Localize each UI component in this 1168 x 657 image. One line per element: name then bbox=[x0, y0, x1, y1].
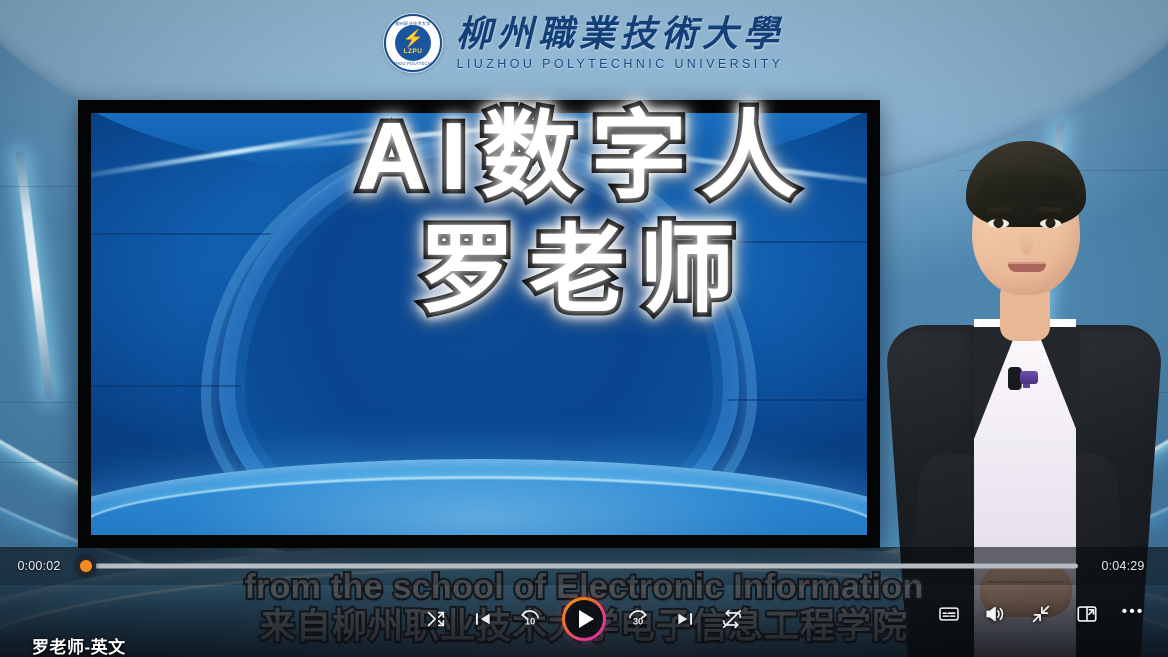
screen-panel-seam bbox=[727, 399, 867, 401]
exit-fullscreen-icon[interactable] bbox=[1028, 601, 1054, 627]
subtitles-icon[interactable] bbox=[936, 601, 962, 627]
presentation-screen-frame bbox=[78, 100, 880, 548]
emblem-core: ⚡ LZPU bbox=[395, 25, 431, 61]
progress-row: 0:00:02 0:04:29 bbox=[0, 547, 1168, 585]
emblem-abbr: LZPU bbox=[403, 47, 422, 56]
button-row: 罗老师-英文 bbox=[0, 583, 1168, 657]
repeat-off-icon[interactable] bbox=[717, 604, 747, 634]
forward-30-icon[interactable]: 30 bbox=[623, 604, 653, 634]
video-player-stage: 柳州职业技术大学 ⚡ LZPU LIUZHOU POLYTECHNIC UNIV… bbox=[0, 0, 1168, 657]
emblem-arc-bottom-text: LIUZHOU POLYTECHNIC UNIVERSITY bbox=[386, 61, 440, 66]
lzpu-lightning-logo-icon: ⚡ bbox=[403, 30, 423, 47]
center-controls: 10 30 bbox=[421, 597, 747, 641]
presentation-screen bbox=[91, 113, 867, 535]
picture-in-picture-icon[interactable] bbox=[1074, 601, 1100, 627]
forward-30-label: 30 bbox=[633, 617, 643, 628]
player-control-bar: 0:00:02 0:04:29 罗老师-英文 bbox=[0, 547, 1168, 657]
seek-track[interactable] bbox=[78, 564, 1078, 569]
more-options-icon[interactable]: ••• bbox=[1120, 601, 1146, 627]
university-branding: 柳州职业技术大学 ⚡ LZPU LIUZHOU POLYTECHNIC UNIV… bbox=[0, 2, 1168, 84]
university-emblem-icon: 柳州职业技术大学 ⚡ LZPU LIUZHOU POLYTECHNIC UNIV… bbox=[384, 14, 442, 72]
seek-handle[interactable] bbox=[76, 556, 96, 576]
rewind-10-label: 10 bbox=[525, 617, 535, 628]
emblem-arc-top-text: 柳州职业技术大学 bbox=[386, 21, 440, 27]
seek-bar[interactable] bbox=[78, 547, 1078, 585]
screen-panel-seam bbox=[91, 385, 241, 387]
university-name-cn: 柳州職業技術大學 bbox=[456, 15, 784, 54]
university-name-block: 柳州職業技術大學 LIUZHOU POLYTECHNIC UNIVERSITY bbox=[456, 15, 784, 71]
rewind-10-icon[interactable]: 10 bbox=[515, 604, 545, 634]
next-track-icon[interactable] bbox=[670, 604, 700, 634]
right-controls: ••• bbox=[936, 601, 1146, 627]
total-time-label: 0:04:29 bbox=[1078, 559, 1168, 573]
play-icon bbox=[579, 610, 594, 628]
screen-panel-seam bbox=[697, 241, 867, 243]
screen-panel-seam bbox=[91, 233, 271, 235]
current-time-label: 0:00:02 bbox=[0, 559, 78, 573]
clip-title: 罗老师-英文 bbox=[32, 633, 126, 657]
shuffle-icon[interactable] bbox=[421, 604, 451, 634]
play-button[interactable] bbox=[562, 597, 606, 641]
previous-track-icon[interactable] bbox=[468, 604, 498, 634]
volume-icon[interactable] bbox=[982, 601, 1008, 627]
university-name-en: LIUZHOU POLYTECHNIC UNIVERSITY bbox=[457, 57, 784, 71]
